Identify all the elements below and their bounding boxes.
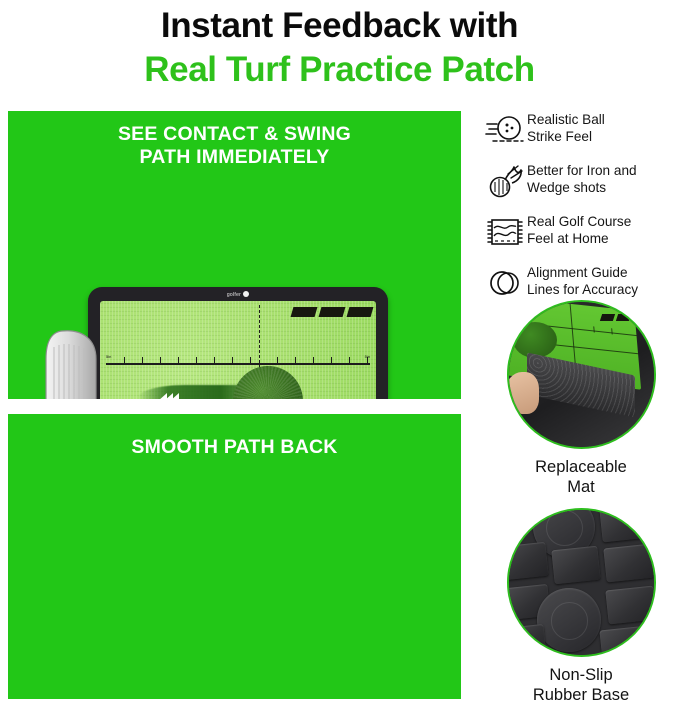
feature-list: Realistic Ball Strike Feel Better for Ir… <box>483 110 679 314</box>
panel-bottom-heading: SMOOTH PATH BACK <box>8 436 461 459</box>
impact-circle <box>513 322 557 358</box>
alignment-block <box>319 307 346 317</box>
card-caption: Non-Slip Rubber Base <box>483 665 679 705</box>
feature-item-alignment-guide: Alignment Guide Lines for Accuracy <box>483 263 679 303</box>
rubber-cell <box>551 546 600 585</box>
alignment-block <box>291 307 318 317</box>
mat-brand-text: golfer <box>227 292 241 298</box>
card-rubber-base: Non-Slip Rubber Base <box>483 508 679 705</box>
rubber-cell <box>507 624 547 657</box>
feature-label: Real Golf Course Feel at Home <box>527 212 631 247</box>
panel-smooth-path: SMOOTH PATH BACK golfer 5in <box>8 414 461 699</box>
mat-brand-logo: golfer <box>88 291 388 298</box>
feature-item-iron-wedge-shots: Better for Iron and Wedge shots <box>483 161 679 201</box>
rubber-cell <box>599 626 650 657</box>
feature-label: Better for Iron and Wedge shots <box>527 161 637 196</box>
rubber-cell <box>599 508 650 542</box>
panel-swing-contact: SEE CONTACT & SWING PATH IMMEDIATELY gol… <box>8 111 461 399</box>
swing-path-chevrons <box>158 393 176 399</box>
ruler-label-right: 5in <box>365 354 370 359</box>
mat-turf-surface-top: 5in 5in 5in <box>100 301 376 399</box>
infographic-canvas: Instant Feedback with Real Turf Practice… <box>0 0 679 699</box>
feature-item-realistic-ball-strike: Realistic Ball Strike Feel <box>483 110 679 150</box>
title-line-2: Real Turf Practice Patch <box>0 48 679 92</box>
golf-course-landscape-icon <box>483 212 527 252</box>
feature-label: Alignment Guide Lines for Accuracy <box>527 263 638 298</box>
rubber-cell <box>507 542 549 580</box>
page-title: Instant Feedback with Real Turf Practice… <box>0 0 679 104</box>
ruler-upper: 5in 5in <box>106 363 370 365</box>
alignment-blocks <box>598 308 646 326</box>
replaceable-mat-photo <box>507 300 656 449</box>
alignment-block <box>347 307 374 317</box>
flaming-golf-ball-icon <box>483 161 527 201</box>
title-line-1: Instant Feedback with <box>0 4 679 48</box>
panel-top-heading: SEE CONTACT & SWING PATH IMMEDIATELY <box>8 123 461 169</box>
mat-logo-ball-icon <box>243 291 249 297</box>
rubber-cell <box>603 544 654 583</box>
two-circles-alignment-icon <box>483 263 527 303</box>
rubber-cell <box>605 586 656 625</box>
hand <box>507 372 539 414</box>
golf-ball-motion-icon <box>483 110 527 150</box>
card-replaceable-mat: Replaceable Mat <box>483 300 679 497</box>
feature-label: Realistic Ball Strike Feel <box>527 110 605 145</box>
rubber-disc <box>537 588 601 652</box>
impact-circle <box>233 366 303 399</box>
rubber-base-photo <box>507 508 656 657</box>
feature-item-real-golf-course: Real Golf Course Feel at Home <box>483 212 679 252</box>
card-caption: Replaceable Mat <box>483 457 679 497</box>
golf-club-iron-top <box>26 325 136 399</box>
